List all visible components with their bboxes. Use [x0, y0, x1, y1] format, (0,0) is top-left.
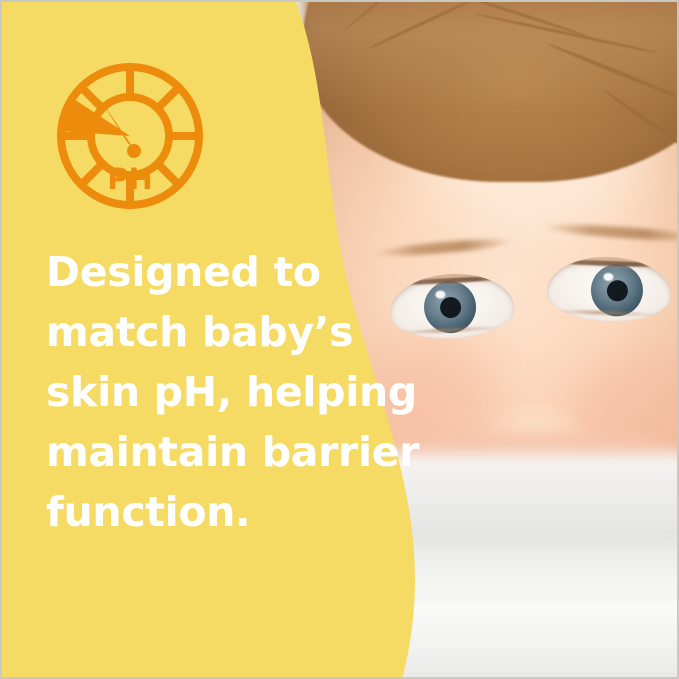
ph-gauge-icon: PH: [54, 60, 206, 212]
headline-line: match baby’s: [46, 302, 418, 362]
gauge-spoke: [158, 164, 179, 185]
headline-line: skin pH, helping: [46, 362, 418, 422]
headline-line: maintain barrier: [46, 422, 418, 482]
gauge-spoke: [158, 87, 179, 108]
headline-line: function.: [46, 482, 418, 542]
gauge-spoke: [81, 87, 102, 108]
headline-line: Designed to: [46, 242, 418, 302]
gauge-ph-label: PH: [107, 162, 153, 196]
panel-content: PH Designed to match baby’s skin pH, hel…: [2, 2, 422, 677]
promo-image: PH Designed to match baby’s skin pH, hel…: [0, 0, 679, 679]
headline: Designed to match baby’s skin pH, helpin…: [46, 242, 418, 542]
gauge-spoke: [81, 164, 102, 185]
gauge-needle-hub: [127, 144, 141, 158]
